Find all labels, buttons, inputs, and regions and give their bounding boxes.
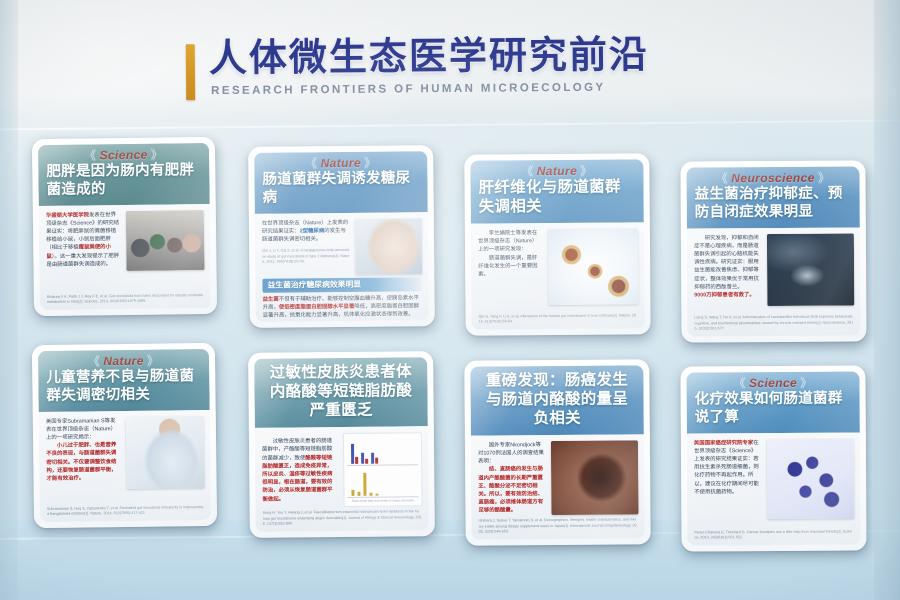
panel-title: 肠道菌群失调诱发糖尿病	[262, 170, 419, 207]
panel-title: 肥胖是因为肠内有肥胖菌造成的	[46, 162, 201, 199]
panel-citation: Ishihara J, Sobue T, Yamamoto S, et al. …	[478, 515, 637, 536]
poster-panel-3[interactable]: 《Nature》 肝纤维化与肠道菌群失调相关 李兰娟院士等发表在世界顶级杂志（N…	[464, 153, 650, 335]
panel-body-text-2: 益生菌不但有于辅助治疗、能够控制空腹血糖升高，使胰岛素水平升高，使低密度脂蛋白胆…	[263, 294, 422, 320]
panel-body: 研究发现，抑郁和自闭症不是心理疾病，而是肠道菌群失调引起的心脑机能失调性疾病。研…	[687, 227, 861, 336]
panel-body: 过敏性皮肤炎患者的肠道菌群中，产酪酸等短链脂肪酸的菌群减少，致使酪酸等短链脂肪酸…	[255, 426, 429, 532]
obesity-people-photo	[126, 210, 205, 271]
panel-body: 在世界顶级杂志（Nature）上发表的研究结果证实：2型糖尿病的发生与肠道菌群失…	[255, 212, 429, 322]
panel-body: 华盛顿大学医学院发表在世界顶级杂志《Science》的研究结果证实：将肥胖鼠的粪…	[39, 204, 211, 311]
chart-panel-b	[347, 468, 419, 498]
scfa-bar-chart: Short-chain fatty acid levels in atopic …	[343, 432, 423, 507]
panel-highlight-banner: 益生菌治疗糖尿病效果明显	[262, 277, 421, 293]
title-text-group: 人体微生态医学研究前沿 RESEARCH FRONTIERS OF HUMAN …	[209, 36, 649, 97]
panel-body: 美国专家Subramanian S等发表在世界顶级杂志（Nature）上的一项研…	[39, 410, 211, 523]
panel-header: 《Nature》 儿童营养不良与肠道菌群失调密切相关	[38, 349, 210, 412]
panel-body-text: 美国专家Subramanian S等发表在世界顶级杂志（Nature）上的一项研…	[46, 417, 121, 484]
panel-citation: Qin N, Yang F, Li A, et al. Alterations …	[479, 310, 638, 325]
panel-header: 《Science》 肥胖是因为肠内有肥胖菌造成的	[38, 143, 210, 206]
panel-body-text: 在世界顶级杂志（Nature）上发表的研究结果证实：2型糖尿病的发生与肠道菌群失…	[262, 218, 350, 243]
malnutrition-child-photo	[126, 416, 205, 489]
panel-body-text: 美国国家癌症研究院专家在世界顶级杂志《Science》上发表的研究结果证实：若用…	[694, 439, 761, 497]
journal-name: 《Science》	[695, 377, 852, 391]
panel-citation: Subramanian S, Huq S, Yatsunenko T, et a…	[47, 502, 204, 518]
title-accent-bar	[186, 44, 195, 100]
journal-name: 《Neuroscience》	[695, 172, 852, 186]
page-subtitle: RESEARCH FRONTIERS OF HUMAN MICROECOLOGY	[211, 81, 649, 97]
poster-panel-1[interactable]: 《Science》 肥胖是因为肠内有肥胖菌造成的 华盛顿大学医学院发表在世界顶级…	[32, 137, 217, 316]
poster-panel-2[interactable]: 《Nature》 肠道菌群失调诱发糖尿病 在世界顶级杂志（Nature）上发表的…	[248, 145, 435, 328]
panel-body: 李兰娟院士等发表在世界顶级杂志（Nature）上的一项研究发现：肠道菌群失调，是…	[471, 222, 645, 329]
colon-endoscopy-photo	[551, 440, 639, 515]
panel-header: 《Nature》 肠道菌群失调诱发糖尿病	[254, 151, 428, 213]
page-title: 人体微生态医学研究前沿	[209, 36, 649, 80]
journal-name: 《Science》	[46, 148, 201, 163]
poster-panel-6[interactable]: 过敏性皮肤炎患者体内酪酸等短链脂肪酸严重匮乏 过敏性皮肤炎患者的肠道菌群中，产酪…	[248, 351, 435, 538]
panel-body-text: 研究发现，抑郁和自闭症不是心理疾病，而是肠道菌群失调引起的心脑机能失调性疾病。研…	[694, 234, 761, 300]
panel-header: 《Nature》 肝纤维化与肠道菌群失调相关	[470, 159, 643, 223]
panel-body-text: 过敏性皮肤炎患者的肠道菌群中，产酪酸等短链脂肪酸的菌群减少，致使酪酸等短链脂肪酸…	[262, 437, 337, 503]
poster-panel-7[interactable]: 重磅发现：肠癌发生与肠道内酪酸的量呈负相关 国外专家Nkondjock等对107…	[464, 359, 650, 545]
journal-name: 《Nature》	[478, 164, 635, 178]
wall-scene: 人体微生态医学研究前沿 RESEARCH FRONTIERS OF HUMAN …	[0, 0, 900, 600]
liver-fibrosis-diagram	[547, 228, 638, 305]
panel-citation: Ridaura V K, Faith J J, Rey F E, et al. …	[47, 290, 204, 306]
panel-body-text: 华盛顿大学医学院发表在世界顶级杂志《Science》的研究结果证实：将肥胖鼠的粪…	[46, 211, 120, 269]
panel-citation: Asemi Z, Zare Z, Shakeri H, et al. Effec…	[263, 319, 422, 322]
depression-night-photo	[767, 233, 855, 306]
panel-title: 重磅发现：肠癌发生与肠道内酪酸的量呈负相关	[478, 371, 635, 429]
panel-header: 重磅发现：肠癌发生与肠道内酪酸的量呈负相关	[470, 365, 644, 435]
diabetes-abdomen-photo	[355, 218, 422, 275]
panel-body-text: 李兰娟院士等发表在世界顶级杂志（Nature）上的一项研究发现：肠道菌群失调，是…	[478, 229, 542, 279]
panel-citation: Song H, Yoo Y, Hwang J, et al. Faecaliba…	[263, 507, 422, 528]
histology-microscope-photo	[767, 438, 855, 519]
panel-title: 化疗效果如何肠道菌群说了算	[695, 391, 852, 427]
poster-panel-8[interactable]: 《Science》 化疗效果如何肠道菌群说了算 美国国家癌症研究院专家在世界顶级…	[680, 365, 866, 551]
panel-title: 过敏性皮肤炎患者体内酪酸等短链脂肪酸严重匮乏	[262, 363, 420, 421]
display-title-block: 人体微生态医学研究前沿 RESEARCH FRONTIERS OF HUMAN …	[186, 36, 717, 113]
chart-caption: Short-chain fatty acid levels in atopic …	[347, 499, 419, 503]
panel-body: 美国国家癌症研究院专家在世界顶级杂志《Science》上发表的研究结果证实：若用…	[687, 432, 861, 545]
panel-title: 儿童营养不良与肠道菌群失调密切相关	[46, 368, 201, 405]
panel-header: 《Neuroscience》 益生菌治疗抑郁症、预防自闭症效果明显	[686, 166, 859, 228]
panel-header: 《Science》 化疗效果如何肠道菌群说了算	[686, 371, 859, 433]
chart-panel-a	[347, 436, 419, 466]
panel-title: 肝纤维化与肠道菌群失调相关	[478, 179, 635, 218]
poster-panel-4[interactable]: 《Neuroscience》 益生菌治疗抑郁症、预防自闭症效果明显 研究发现，抑…	[680, 160, 866, 342]
panel-title: 益生菌治疗抑郁症、预防自闭症效果明显	[695, 186, 852, 222]
panel-header: 过敏性皮肤炎患者体内酪酸等短链脂肪酸严重匮乏	[254, 357, 428, 427]
poster-panel-5[interactable]: 《Nature》 儿童营养不良与肠道菌群失调密切相关 美国专家Subramani…	[32, 343, 217, 528]
journal-name: 《Nature》	[46, 354, 201, 369]
panel-citation: Perez-Chanona E, Trinchieri G. Cancer th…	[694, 526, 853, 541]
journal-name: 《Nature》	[262, 156, 419, 171]
panel-mid-citation: Qin J, Li Y, Cai Z, et al. A metagenome-…	[262, 245, 350, 265]
panel-citation: Liang S, Wang T, Hu X, et al. Administra…	[694, 312, 853, 333]
panel-body: 国外专家Nkondjock等对1070例法国人的调查结果表明：结、直肠癌的发生与…	[471, 434, 645, 540]
panel-body-text: 国外专家Nkondjock等对1070例法国人的调查结果表明：结、直肠癌的发生与…	[478, 441, 545, 515]
